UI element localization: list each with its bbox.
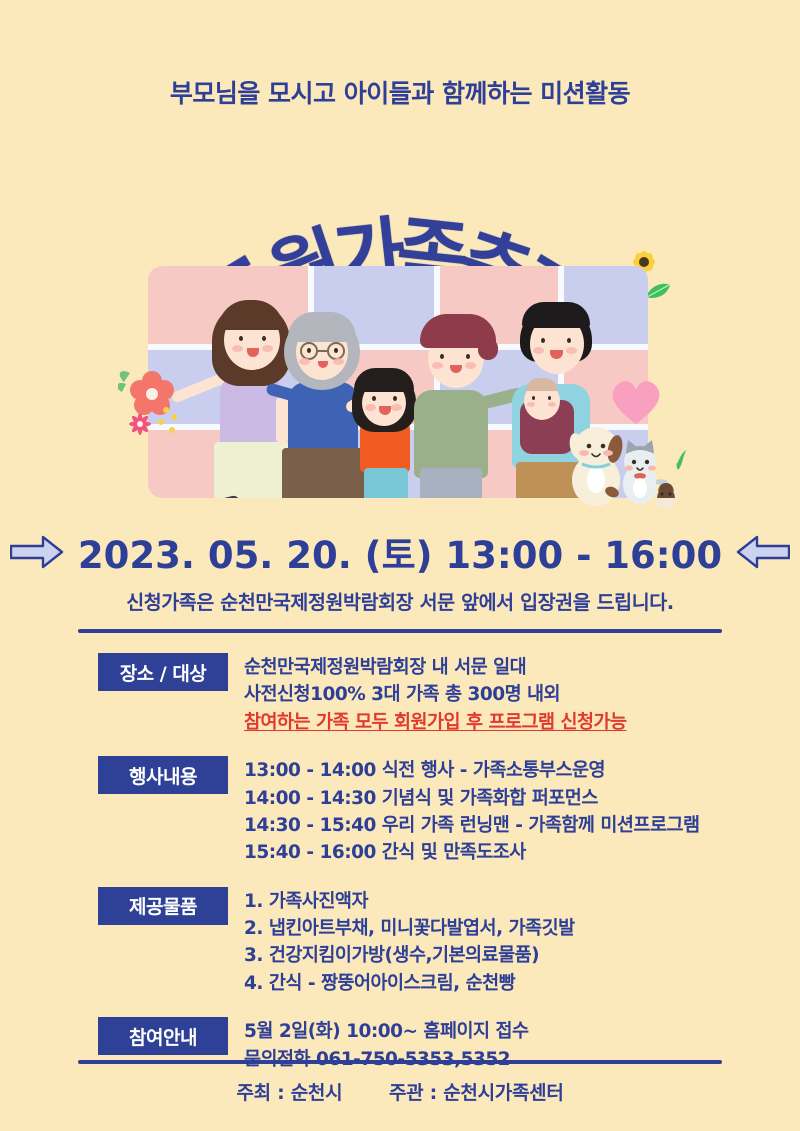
small-leaf-icon	[677, 450, 687, 470]
event-date-text: 2023. 05. 20. (토) 13:00 - 16:00	[78, 525, 722, 579]
info-row-line: 14:30 - 15:40 우리 가족 런닝맨 - 가족함께 미션프로그램	[244, 812, 738, 839]
family-illustration	[118, 258, 686, 510]
info-row-body: 5월 2일(화) 10:00~ 홈페이지 접수문의전화 061-750-5353…	[244, 1017, 738, 1073]
info-row-line: 3. 건강지킴이가방(생수,기본의료물품)	[244, 942, 738, 969]
info-row-line: 순천만국제정원박람회장 내 서문 일대	[244, 654, 738, 681]
info-row: 참여안내5월 2일(화) 10:00~ 홈페이지 접수문의전화 061-750-…	[98, 1017, 738, 1073]
flower-icon	[118, 368, 188, 448]
info-table: 장소 / 대상순천만국제정원박람회장 내 서문 일대사전신청100% 3대 가족…	[98, 653, 738, 1093]
info-row-line: 5월 2일(화) 10:00~ 홈페이지 접수	[244, 1018, 738, 1045]
poster-root: 부모님을 모시고 아이들과 함께하는 미션활동 5월가족축제	[0, 0, 800, 1131]
dog-and-cat-illustration	[566, 418, 686, 508]
divider-top	[78, 629, 722, 633]
footer: 주최 : 순천시 주관 : 순천시가족센터	[0, 1078, 800, 1105]
info-row-body: 순천만국제정원박람회장 내 서문 일대사전신청100% 3대 가족 총 300명…	[244, 653, 738, 736]
info-row: 행사내용13:00 - 14:00 식전 행사 - 가족소통부스운영14:00 …	[98, 756, 738, 867]
info-row-line: 14:00 - 14:30 기념식 및 가족화합 퍼포먼스	[244, 785, 738, 812]
divider-bottom	[78, 1060, 722, 1064]
ticket-notice-text: 신청가족은 순천만국제정원박람회장 서문 앞에서 입장권을 드립니다.	[0, 586, 800, 615]
info-row-line: 4. 간식 - 짱뚱어아이스크림, 순천빵	[244, 970, 738, 997]
poster-subtitle: 부모님을 모시고 아이들과 함께하는 미션활동	[0, 74, 800, 110]
info-row-line: 1. 가족사진액자	[244, 888, 738, 915]
info-row: 제공물품1. 가족사진액자2. 냅킨아트부채, 미니꽃다발엽서, 가족깃발3. …	[98, 887, 738, 998]
info-row-body: 1. 가족사진액자2. 냅킨아트부채, 미니꽃다발엽서, 가족깃발3. 건강지킴…	[244, 887, 738, 998]
info-row: 장소 / 대상순천만국제정원박람회장 내 서문 일대사전신청100% 3대 가족…	[98, 653, 738, 736]
info-row-label: 장소 / 대상	[98, 653, 228, 691]
event-date-line: 2023. 05. 20. (토) 13:00 - 16:00	[0, 526, 800, 578]
footer-host: 주최 : 순천시	[236, 1078, 342, 1105]
footer-organizer: 주관 : 순천시가족센터	[389, 1078, 564, 1105]
info-row-body: 13:00 - 14:00 식전 행사 - 가족소통부스운영14:00 - 14…	[244, 756, 738, 867]
info-row-label: 행사내용	[98, 756, 228, 794]
info-row-line: 사전신청100% 3대 가족 총 300명 내외	[244, 681, 738, 708]
info-row-line: 2. 냅킨아트부채, 미니꽃다발엽서, 가족깃발	[244, 915, 738, 942]
kitten-icon	[656, 483, 676, 508]
info-row-line-alert: 참여하는 가족 모두 회원가입 후 프로그램 신청가능	[244, 709, 738, 736]
info-row-label: 참여안내	[98, 1017, 228, 1055]
info-row-line: 13:00 - 14:00 식전 행사 - 가족소통부스운영	[244, 757, 738, 784]
right-pointing-arrow-icon	[10, 535, 64, 569]
info-row-label: 제공물품	[98, 887, 228, 925]
left-pointing-arrow-icon	[736, 535, 790, 569]
dog-icon	[567, 427, 624, 506]
info-row-line: 15:40 - 16:00 간식 및 만족도조사	[244, 839, 738, 866]
